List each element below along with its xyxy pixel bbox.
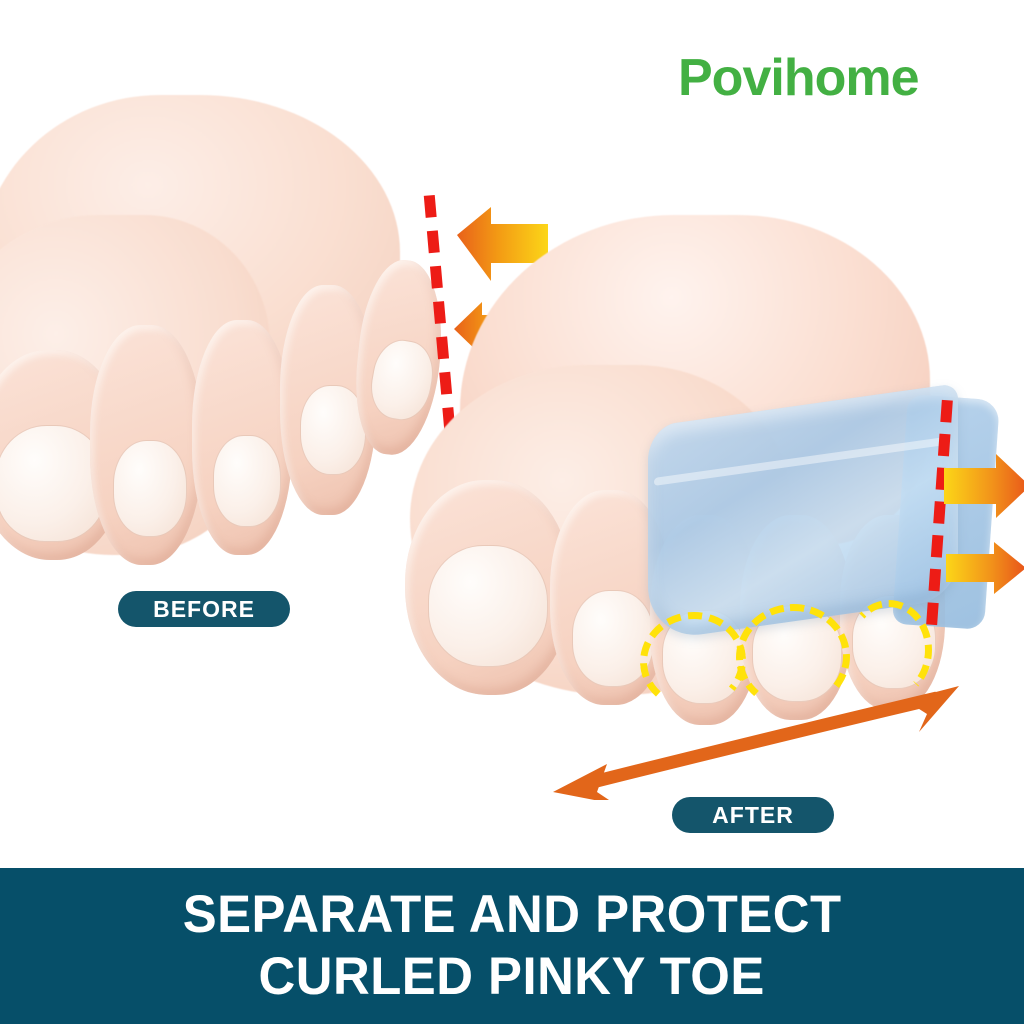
big-toenail xyxy=(428,545,548,667)
toe-spread-curved-arrow-icon xyxy=(545,680,965,800)
before-label-badge: BEFORE xyxy=(118,591,290,627)
bottom-banner: SEPARATE AND PROTECT CURLED PINKY TOE xyxy=(0,868,1024,1024)
second-toenail xyxy=(113,440,187,537)
gel-toe-separator xyxy=(648,383,958,642)
product-infographic: Povihome xyxy=(0,0,1024,1024)
third-toenail xyxy=(213,435,281,527)
brand-logo: Povihome xyxy=(678,50,978,106)
relief-arrow-icon xyxy=(942,452,1024,520)
after-label-badge: AFTER xyxy=(672,797,834,833)
relief-arrow-icon xyxy=(944,540,1024,596)
before-label-text: BEFORE xyxy=(153,596,255,623)
banner-headline-line-1: SEPARATE AND PROTECT xyxy=(183,884,842,946)
banner-headline-line-2: CURLED PINKY TOE xyxy=(259,946,765,1008)
after-label-text: AFTER xyxy=(712,802,794,829)
